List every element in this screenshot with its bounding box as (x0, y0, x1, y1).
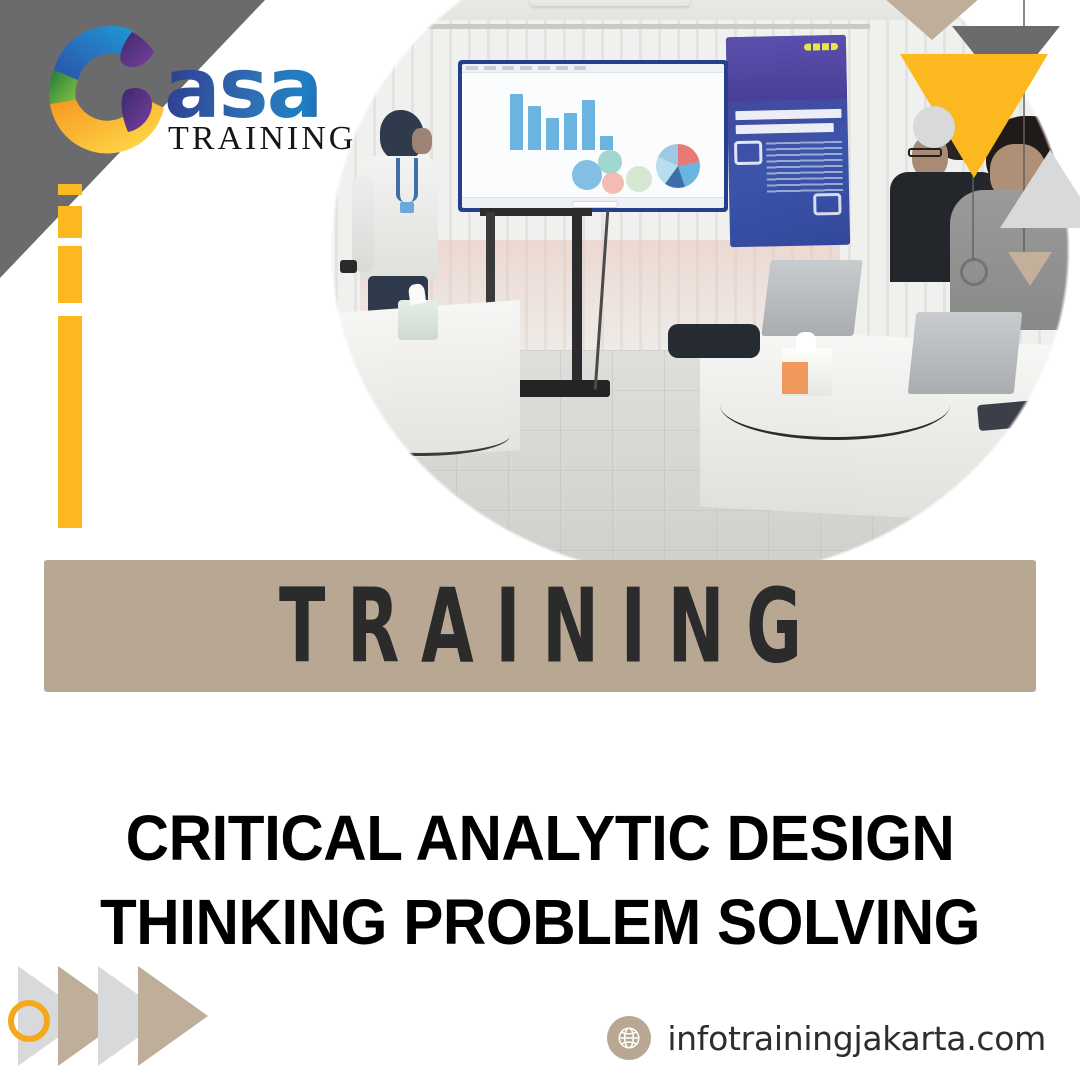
circle-outline-icon (8, 1000, 50, 1042)
training-banner: TRAINING (44, 560, 1036, 692)
presenter-face (412, 128, 432, 154)
screen-surface (462, 64, 724, 208)
banner-text-line1 (735, 109, 841, 120)
screen-bar-chart (510, 92, 613, 150)
air-conditioner-icon (530, 0, 690, 6)
screen-taskbar (462, 197, 724, 208)
globe-icon (607, 1016, 651, 1060)
blind-rail (370, 24, 870, 29)
decor-gray-circle (913, 106, 955, 148)
presenter-lanyard (396, 158, 418, 202)
tv-stand-post (572, 212, 582, 387)
screen-bubble-chart (572, 150, 664, 194)
website-link[interactable]: infotrainingjakarta.com (607, 1016, 1046, 1060)
banner-dots-icon (804, 43, 838, 51)
tissue-box-left (398, 300, 438, 340)
presenter-id-badge (400, 202, 414, 213)
page-title: CRITICAL ANALYTIC DESIGN THINKING PROBLE… (0, 796, 1080, 965)
bag-on-table (668, 324, 760, 358)
banner-text-line2 (736, 123, 834, 134)
title-line-2: THINKING PROBLEM SOLVING (32, 880, 1047, 964)
screen-pie-chart (656, 144, 700, 188)
screen-toolbar (462, 64, 724, 73)
website-url: infotrainingjakarta.com (667, 1019, 1046, 1058)
cable-on-table (720, 370, 950, 440)
standing-banner (726, 35, 850, 247)
participant-1-glasses-icon (908, 148, 942, 157)
accent-bar-2 (58, 206, 82, 238)
title-line-1: CRITICAL ANALYTIC DESIGN (32, 796, 1047, 880)
logo-name: asa (164, 52, 356, 124)
asa-circular-swoosh-logo-icon (36, 18, 178, 160)
accent-bar-3 (58, 246, 82, 303)
brand-logo[interactable]: asa TRAINING (36, 18, 356, 178)
banner-number-02 (813, 193, 841, 216)
logo-wordmark: asa TRAINING (164, 52, 356, 158)
training-banner-label: TRAINING (257, 566, 823, 686)
presenter-arm (352, 176, 374, 272)
banner-number-01 (734, 141, 762, 166)
laptop-1 (761, 260, 862, 336)
hanging-ring-icon (960, 258, 988, 286)
accent-bar-1 (58, 184, 82, 195)
presenter-watch-icon (340, 260, 357, 273)
logo-subtitle: TRAINING (164, 120, 356, 158)
hanging-line (972, 176, 974, 260)
accent-bar-4 (58, 316, 82, 528)
banner-body-text (766, 141, 843, 195)
display-screen (458, 60, 728, 212)
poster-canvas: asa TRAINING TRAINING CRITICAL ANALYTIC … (0, 0, 1080, 1080)
